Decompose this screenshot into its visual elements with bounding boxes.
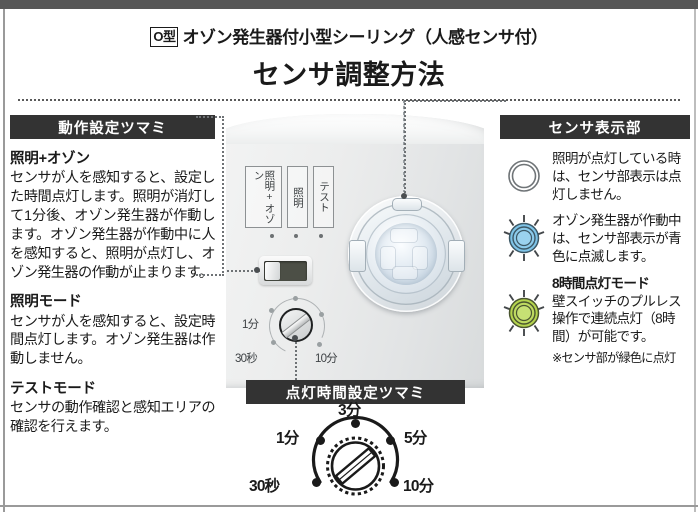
knob-label-1min: 1分 xyxy=(242,316,258,332)
knob-label-30sec: 30秒 xyxy=(235,350,257,366)
mode-label-test: テスト xyxy=(313,166,334,228)
ring-off-icon xyxy=(500,152,548,200)
left-block-test-mode: テストモード センサの動作確認と感知エリアの確認を行えます。 xyxy=(10,380,215,437)
ring-blue-blink-icon xyxy=(500,214,548,262)
left-block-body: センサが人を感知すると、設定した時間点灯します。照明が消灯して1分後、オゾン発生… xyxy=(10,169,215,282)
dome-clip-right xyxy=(448,240,465,272)
leader-dome-horizontal xyxy=(404,100,482,102)
sensor-state-green-note: ※センサ部が緑色に点灯 xyxy=(552,348,690,366)
sensor-state-off: 照明が点灯している時は、センサ部表示は点灯しません。 xyxy=(500,150,690,203)
sensor-state-blue: オゾン発生器が作動中は、センサ部表示が青色に点滅します。 xyxy=(500,212,690,265)
knob-label-10min: 10分 xyxy=(315,350,337,366)
dial-node-lower-left xyxy=(312,478,321,487)
dial-node-top xyxy=(351,419,360,428)
dial-node-lower-right xyxy=(390,478,399,487)
device-illustration: 照明+オゾン 照明 テスト 1分 30秒 10分 xyxy=(226,100,484,388)
product-title-text: オゾン発生器付小型シーリング（人感センサ付） xyxy=(182,28,547,47)
dial-label-1min: 1分 xyxy=(276,426,299,448)
sensor-lens xyxy=(375,223,437,285)
knob-tick xyxy=(271,340,276,345)
left-block-heading: テストモード xyxy=(10,380,215,398)
right-column: 照明が点灯している時は、センサ部表示は点灯しません。 xyxy=(500,150,690,375)
dome-clip-top xyxy=(392,198,422,211)
mode-slide-switch[interactable] xyxy=(259,256,312,285)
knob-tick xyxy=(269,308,274,313)
page-title: センサ調整方法 xyxy=(0,53,698,92)
switch-knob[interactable] xyxy=(265,262,280,280)
left-block-heading: 照明+オゾン xyxy=(10,150,215,168)
knob-tick xyxy=(319,312,324,317)
sensor-state-blue-text: オゾン発生器が作動中は、センサ部表示が青色に点滅します。 xyxy=(552,212,690,265)
sensor-dome xyxy=(348,196,464,312)
left-block-heading: 照明モード xyxy=(10,293,215,311)
leader-right-column xyxy=(484,100,506,102)
dial-node-upper-left xyxy=(316,436,325,445)
sensor-state-green-heading: 8時間点灯モード xyxy=(552,275,690,293)
left-block-body: センサが人を感知すると、設定時間点灯します。オゾン発生器は作動しません。 xyxy=(10,313,215,370)
page-header: O型オゾン発生器付小型シーリング（人感センサ付） センサ調整方法 xyxy=(0,9,698,95)
sensor-state-green: 8時間点灯モード 壁スイッチのプルレス操作で連続点灯（8時間）が可能です。 ※セ… xyxy=(500,275,690,366)
mode-label-light: 照明 xyxy=(287,166,308,228)
ring-green-lit-icon xyxy=(500,289,548,337)
bottom-panel: 点灯時間設定ツマミ 3分 1分 5分 30 xyxy=(246,380,465,506)
left-section-header: 動作設定ツマミ xyxy=(10,115,215,139)
model-badge: O型 xyxy=(150,27,178,47)
dial-label-30sec: 30秒 xyxy=(249,474,279,496)
leader-dome-vertical xyxy=(404,100,406,196)
mode-indicator-dot xyxy=(270,234,274,238)
mode-indicator-dot xyxy=(319,234,323,238)
knob-tick xyxy=(293,296,298,301)
left-block-light-ozone: 照明+オゾン センサが人を感知すると、設定した時間点灯します。照明が消灯して1分… xyxy=(10,150,215,282)
left-block-light-mode: 照明モード センサが人を感知すると、設定時間点灯します。オゾン発生器は作動しませ… xyxy=(10,293,215,369)
sensor-state-off-text: 照明が点灯している時は、センサ部表示は点灯しません。 xyxy=(552,150,690,203)
dial-node-upper-right xyxy=(386,436,395,445)
leader-left-column-top xyxy=(196,116,224,118)
dial-label-3min: 3分 xyxy=(338,398,361,420)
timer-dial-diagram: 3分 1分 5分 30秒 10分 xyxy=(246,410,465,506)
right-section-header: センサ表示部 xyxy=(500,115,690,139)
right-section-header-label: センサ表示部 xyxy=(549,117,642,138)
page-root: O型オゾン発生器付小型シーリング（人感センサ付） センサ調整方法 動作設定ツマミ… xyxy=(0,0,698,512)
product-title-line: O型オゾン発生器付小型シーリング（人感センサ付） xyxy=(0,23,698,48)
leader-dot-knob xyxy=(292,335,298,341)
leader-dot-switch xyxy=(254,267,260,273)
mode-label-light-ozone: 照明+オゾン xyxy=(245,166,282,228)
top-bar xyxy=(0,0,698,9)
mode-indicator-dot xyxy=(294,234,298,238)
dial-label-5min: 5分 xyxy=(404,426,427,448)
leader-left-column-bottom xyxy=(196,274,224,276)
dial-label-10min: 10分 xyxy=(403,474,433,496)
dome-clip-left xyxy=(349,240,366,272)
left-column: 照明+オゾン センサが人を感知すると、設定した時間点灯します。照明が消灯して1分… xyxy=(10,150,215,448)
knob-tick xyxy=(317,342,322,347)
left-section-header-label: 動作設定ツマミ xyxy=(58,117,167,138)
left-block-body: センサの動作確認と感知エリアの確認を行えます。 xyxy=(10,399,215,437)
leader-left-column-vertical xyxy=(222,116,224,276)
sensor-state-green-text: 壁スイッチのプルレス操作で連続点灯（8時間）が可能です。 xyxy=(552,293,690,346)
leader-dot-dome xyxy=(401,193,407,199)
